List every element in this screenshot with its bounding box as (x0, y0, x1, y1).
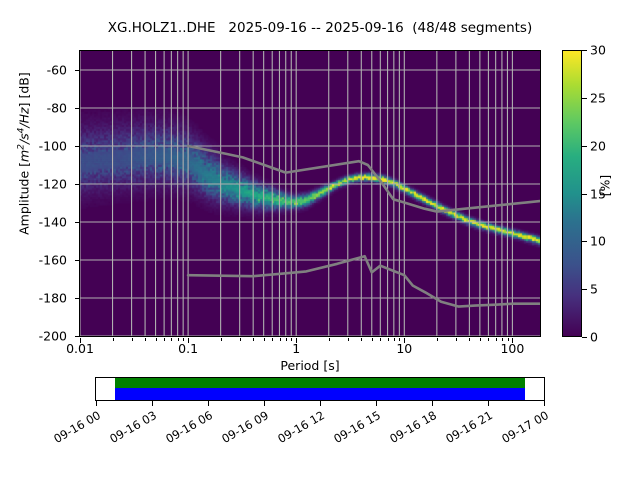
y-axis-tick-mark (75, 298, 80, 299)
timeline-tick-mark (320, 401, 321, 406)
x-axis-minor-tick (480, 338, 481, 341)
timeline-tick-mark (432, 401, 433, 406)
y-axis-label-prefix: Amplitude [ (17, 162, 32, 235)
timeline-tick-label: 09-16 18 (382, 408, 439, 449)
x-axis-minor-tick (113, 338, 114, 341)
y-axis-tick-label: -80 (47, 101, 67, 116)
x-axis-minor-tick (164, 338, 165, 341)
x-axis-minor-tick (329, 338, 330, 341)
y-axis-label: Amplitude [m2/s4/Hz] [dB] (16, 4, 31, 304)
y-axis-tick-label: -180 (39, 291, 67, 306)
timeline-tick-label: 09-16 06 (158, 408, 215, 449)
colorbar-tick-mark (582, 98, 587, 99)
x-axis-minor-tick (156, 338, 157, 341)
x-axis-minor-tick (488, 338, 489, 341)
x-axis-tick-label: 100 (500, 341, 524, 356)
timeline-tick-label: 09-16 03 (102, 408, 159, 449)
y-axis-tick-label: -60 (47, 63, 67, 78)
x-axis-minor-tick (264, 338, 265, 341)
timeline-tick-mark (152, 401, 153, 406)
y-axis-tick-mark (75, 70, 80, 71)
y-axis-tick-mark (75, 184, 80, 185)
y-axis-tick-label: -160 (39, 253, 67, 268)
x-axis-minor-tick (253, 338, 254, 341)
y-axis-label-units: m2/s4/Hz (17, 107, 32, 162)
noise-model-curves (80, 51, 540, 336)
x-axis-minor-tick (240, 338, 241, 341)
data-times-band (115, 388, 526, 400)
timeline-tick-mark (544, 401, 545, 406)
x-axis-minor-tick (496, 338, 497, 341)
colorbar-tick-mark (582, 289, 587, 290)
colorbar-tick-mark (582, 146, 587, 147)
x-axis-minor-tick (380, 338, 381, 341)
timeline-tick-label: 09-16 21 (438, 408, 495, 449)
colorbar[interactable] (562, 50, 582, 337)
colorbar-tick-mark (582, 194, 587, 195)
y-axis-tick-mark (75, 146, 80, 147)
page-title: XG.HOLZ1..DHE 2025-09-16 -- 2025-09-16 (… (0, 20, 640, 36)
x-axis-minor-tick (437, 338, 438, 341)
x-axis-minor-tick (145, 338, 146, 341)
y-axis-tick-mark (75, 260, 80, 261)
x-axis-minor-tick (361, 338, 362, 341)
y-axis-tick-label: -100 (39, 139, 67, 154)
x-axis-minor-tick (372, 338, 373, 341)
x-axis-tick-label: 0.1 (178, 341, 198, 356)
x-axis-minor-tick (280, 338, 281, 341)
x-axis-tick-label: 1 (292, 341, 300, 356)
colorbar-tick-mark (582, 337, 587, 338)
timeline-tick-label: 09-16 09 (214, 408, 271, 449)
x-axis-minor-tick (348, 338, 349, 341)
timeline-tick-label: 09-17 00 (494, 408, 551, 449)
colorbar-label: [%] (598, 136, 613, 236)
y-axis-tick-label: -120 (39, 177, 67, 192)
colorbar-tick-mark (582, 241, 587, 242)
x-axis-minor-tick (171, 338, 172, 341)
y-axis-tick-mark (75, 222, 80, 223)
timeline-coverage-bar[interactable] (95, 377, 545, 401)
x-axis-minor-tick (132, 338, 133, 341)
y-axis-label-suffix: ] [dB] (17, 72, 32, 107)
timeline-tick-mark (96, 401, 97, 406)
timeline-tick-mark (208, 401, 209, 406)
colorbar-tick-label: 0 (590, 330, 598, 345)
colorbar-tick-mark (582, 50, 587, 51)
x-axis-tick-label: 0.01 (66, 341, 94, 356)
y-axis-tick-label: -140 (39, 215, 67, 230)
x-axis-minor-tick (394, 338, 395, 341)
x-axis-tick-label: 10 (396, 341, 412, 356)
timeline-tick-mark (488, 401, 489, 406)
x-axis-minor-tick (388, 338, 389, 341)
timeline-tick-mark (264, 401, 265, 406)
figure-canvas: XG.HOLZ1..DHE 2025-09-16 -- 2025-09-16 (… (0, 0, 640, 480)
y-axis-tick-mark (75, 336, 80, 337)
x-axis-minor-tick (469, 338, 470, 341)
timeline-tick-label: 09-16 15 (326, 408, 383, 449)
timeline-tick-mark (376, 401, 377, 406)
x-axis-label: Period [s] (79, 358, 541, 373)
timeline-tick-label: 09-16 12 (270, 408, 327, 449)
colorbar-tick-label: 25 (590, 90, 606, 105)
timeline-tick-label: 09-16 00 (46, 408, 103, 449)
x-axis-minor-tick (272, 338, 273, 341)
y-axis-tick-mark (75, 108, 80, 109)
x-axis-minor-tick (456, 338, 457, 341)
colorbar-tick-label: 30 (590, 43, 606, 58)
x-axis-minor-tick (221, 338, 222, 341)
y-axis-tick-label: -200 (39, 329, 67, 344)
used-times-band (115, 378, 526, 388)
colorbar-tick-label: 10 (590, 234, 606, 249)
colorbar-tick-label: 5 (590, 282, 598, 297)
x-axis-minor-tick (286, 338, 287, 341)
ppsd-plot-area[interactable] (79, 50, 541, 337)
